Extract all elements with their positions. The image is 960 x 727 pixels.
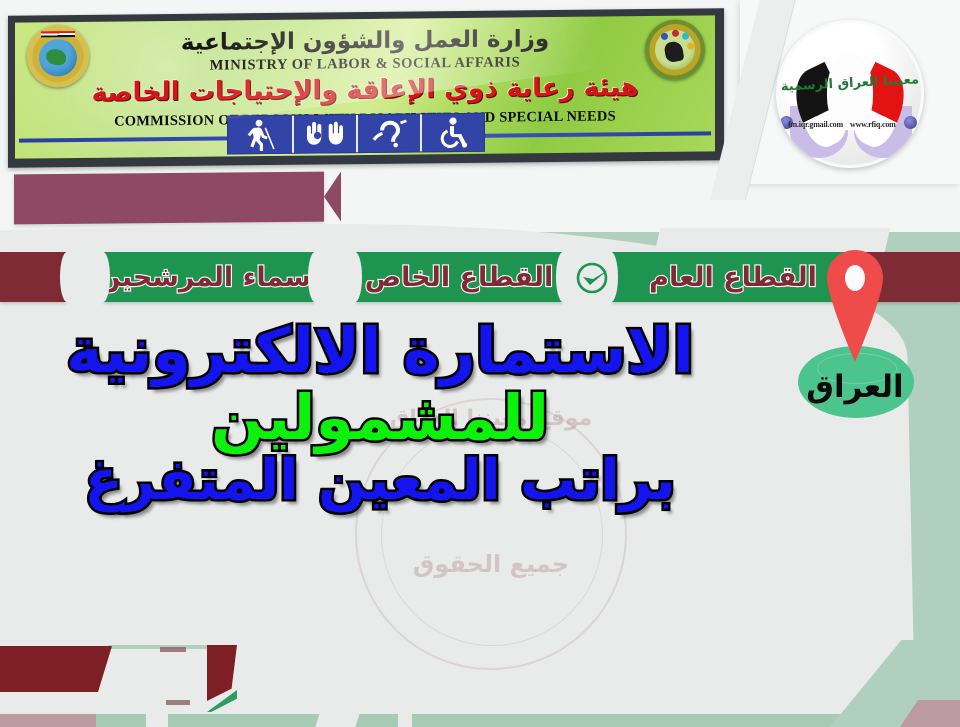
poster-headline: الاستمارة الالكترونية للمشمولين براتب ال… xyxy=(0,318,760,511)
wheelchair-icon xyxy=(420,114,484,152)
bottom-red-bar xyxy=(0,646,98,692)
sign-language-icon xyxy=(292,115,356,153)
headline-line-2: للمشمولين xyxy=(0,385,760,450)
maroon-ribbon-strip xyxy=(14,172,324,225)
bottom-pink-band xyxy=(0,714,96,727)
tab-candidate-names-label: اسماء المرشحين xyxy=(98,264,321,291)
tab-decoration-left xyxy=(0,252,66,302)
site-logo-card: معيننا العراق الرسمية fm.iqr.gmail.com w… xyxy=(740,0,960,184)
map-pin-icon xyxy=(823,248,887,366)
disability-icon-strip xyxy=(227,113,485,155)
iraq-emblem-icon xyxy=(27,25,89,88)
site-logo-icon: معيننا العراق الرسمية fm.iqr.gmail.com w… xyxy=(776,20,924,168)
logo-badge-right xyxy=(904,116,917,129)
check-circle-icon xyxy=(571,256,613,298)
iraq-label: العراق xyxy=(790,372,920,403)
logo-url-right: www.rfiq.com xyxy=(850,120,896,129)
ministry-emblem-icon xyxy=(645,19,705,80)
headline-line-3: براتب المعين المتفرغ xyxy=(0,452,760,511)
blind-cane-icon xyxy=(228,116,292,154)
bottom-tick-2 xyxy=(166,700,190,705)
ministry-banner: وزارة العمل والشؤون الإجتماعية MINISTRY … xyxy=(8,8,724,167)
poster-canvas: وزارة العمل والشؤون الإجتماعية MINISTRY … xyxy=(0,0,960,727)
bottom-tick-1 xyxy=(160,647,186,652)
iraq-location-marker: العراق xyxy=(790,248,920,423)
bottom-green-band xyxy=(0,714,960,727)
tab-candidate-names[interactable]: اسماء المرشحين xyxy=(104,252,314,302)
logo-url-left: fm.iqr.gmail.com xyxy=(788,120,843,129)
bottom-band-gap-3 xyxy=(398,710,412,727)
headline-line-1: الاستمارة الالكترونية xyxy=(0,318,760,383)
hearing-icon xyxy=(356,114,420,152)
bottom-band-gap-2 xyxy=(315,710,361,727)
tab-private-sector[interactable]: القطاع الخاص xyxy=(356,252,562,302)
tab-private-sector-label: القطاع الخاص xyxy=(365,264,553,291)
bottom-band-gap-1 xyxy=(146,714,168,727)
ministry-banner-inner: وزارة العمل والشؤون الإجتماعية MINISTRY … xyxy=(15,15,715,158)
commission-title-ar: هيئة رعاية ذوي الإعاقة والإحتياجات الخاص… xyxy=(15,73,715,108)
ministry-title-ar: وزارة العمل والشؤون الإجتماعية xyxy=(15,25,715,58)
